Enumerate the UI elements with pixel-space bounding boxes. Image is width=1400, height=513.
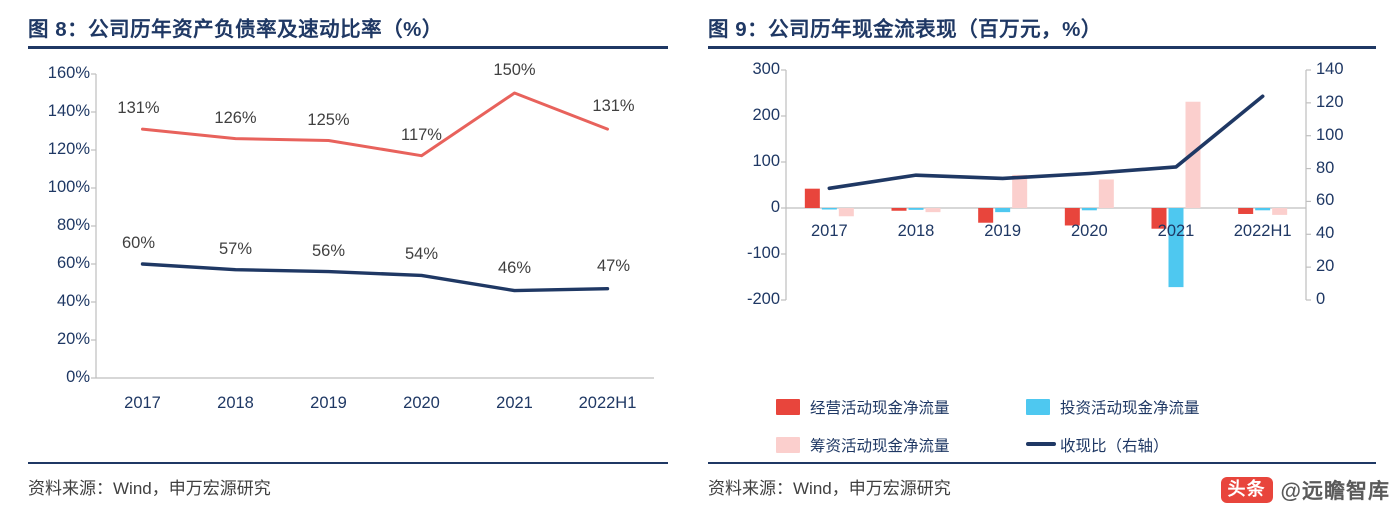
- figure-9-chart: -200-10001002003000204060801001201402017…: [708, 58, 1376, 448]
- y-axis-tick-label: 0: [714, 198, 780, 217]
- data-label: 117%: [382, 126, 462, 145]
- legend-swatch: [776, 399, 800, 415]
- y-axis-tick-label: 140%: [34, 102, 90, 121]
- y-axis-tick-label: 80%: [34, 216, 90, 235]
- x-axis-tick-label: 2019: [953, 222, 1053, 241]
- legend-label: 收现比（右轴）: [1060, 434, 1169, 456]
- x-axis-tick-label: 2022H1: [558, 394, 658, 413]
- y-axis-tick-label: 300: [714, 60, 780, 79]
- data-label: 46%: [475, 259, 555, 278]
- data-label: 125%: [289, 111, 369, 130]
- figure-8-chart: 0%20%40%60%80%100%120%140%160%2017201820…: [28, 62, 668, 442]
- legend-swatch: [776, 437, 800, 453]
- figure-9-title: 图 9：公司历年现金流表现（百万元，%）: [708, 12, 1102, 42]
- x-axis-tick-label: 2022H1: [1213, 222, 1313, 241]
- data-label: 47%: [574, 257, 654, 276]
- x-axis-tick-label: 2017: [779, 222, 879, 241]
- legend-swatch: [1026, 399, 1050, 415]
- legend-line-swatch: [1026, 442, 1056, 446]
- watermark: 头条 @远瞻智库: [1221, 475, 1390, 505]
- data-label: 60%: [99, 234, 179, 253]
- y-axis-tick-label: -200: [714, 290, 780, 309]
- y-axis-tick-label: -100: [714, 244, 780, 263]
- figure-8-source-rule: [28, 462, 668, 464]
- figure-9-source: 资料来源：Wind，申万宏源研究: [708, 474, 951, 499]
- y-axis-tick-label: 200: [714, 106, 780, 125]
- legend-label: 经营活动现金净流量: [810, 396, 950, 418]
- x-axis-tick-label: 2021: [1126, 222, 1226, 241]
- secondary-y-axis-tick-label: 20: [1316, 257, 1366, 276]
- secondary-y-axis-tick-label: 80: [1316, 159, 1366, 178]
- y-axis-tick-label: 0%: [34, 368, 90, 387]
- watermark-text: @远瞻智库: [1281, 475, 1390, 505]
- y-axis-tick-label: 100%: [34, 178, 90, 197]
- data-label: 131%: [574, 97, 654, 116]
- figure-8-source: 资料来源：Wind，申万宏源研究: [28, 474, 271, 499]
- page-root: 图 8：公司历年资产负债率及速动比率（%） 0%20%40%60%80%100%…: [0, 0, 1400, 513]
- data-label: 131%: [99, 99, 179, 118]
- y-axis-tick-label: 100: [714, 152, 780, 171]
- y-axis-tick-label: 60%: [34, 254, 90, 273]
- figure-9-panel: 图 9：公司历年现金流表现（百万元，%） -200-10001002003000…: [700, 0, 1400, 513]
- x-axis-tick-label: 2021: [465, 394, 565, 413]
- data-label: 150%: [475, 61, 555, 80]
- y-axis-tick-label: 20%: [34, 330, 90, 349]
- x-axis-tick-label: 2020: [1039, 222, 1139, 241]
- secondary-y-axis-tick-label: 40: [1316, 224, 1366, 243]
- watermark-badge: 头条: [1221, 477, 1273, 503]
- y-axis-tick-label: 120%: [34, 140, 90, 159]
- x-axis-tick-label: 2019: [279, 394, 379, 413]
- figure-8-title: 图 8：公司历年资产负债率及速动比率（%）: [28, 12, 443, 42]
- secondary-y-axis-tick-label: 60: [1316, 191, 1366, 210]
- figure-9-title-rule: [708, 46, 1376, 49]
- x-axis-tick-label: 2018: [866, 222, 966, 241]
- figure-8-panel: 图 8：公司历年资产负债率及速动比率（%） 0%20%40%60%80%100%…: [0, 0, 690, 513]
- secondary-y-axis-tick-label: 0: [1316, 290, 1366, 309]
- y-axis-tick-label: 160%: [34, 64, 90, 83]
- x-axis-tick-label: 2017: [93, 394, 193, 413]
- data-label: 57%: [196, 240, 276, 259]
- secondary-y-axis-tick-label: 140: [1316, 60, 1366, 79]
- y-axis-tick-label: 40%: [34, 292, 90, 311]
- secondary-y-axis-tick-label: 120: [1316, 93, 1366, 112]
- x-axis-tick-label: 2018: [186, 394, 286, 413]
- figure-9-plot-svg: [708, 58, 1376, 448]
- legend-label: 投资活动现金净流量: [1060, 396, 1200, 418]
- figure-8-title-rule: [28, 46, 668, 49]
- data-label: 126%: [196, 109, 276, 128]
- data-label: 54%: [382, 245, 462, 264]
- data-label: 56%: [289, 242, 369, 261]
- figure-9-source-rule: [708, 462, 1376, 464]
- x-axis-tick-label: 2020: [372, 394, 472, 413]
- legend-label: 筹资活动现金净流量: [810, 434, 950, 456]
- secondary-y-axis-tick-label: 100: [1316, 126, 1366, 145]
